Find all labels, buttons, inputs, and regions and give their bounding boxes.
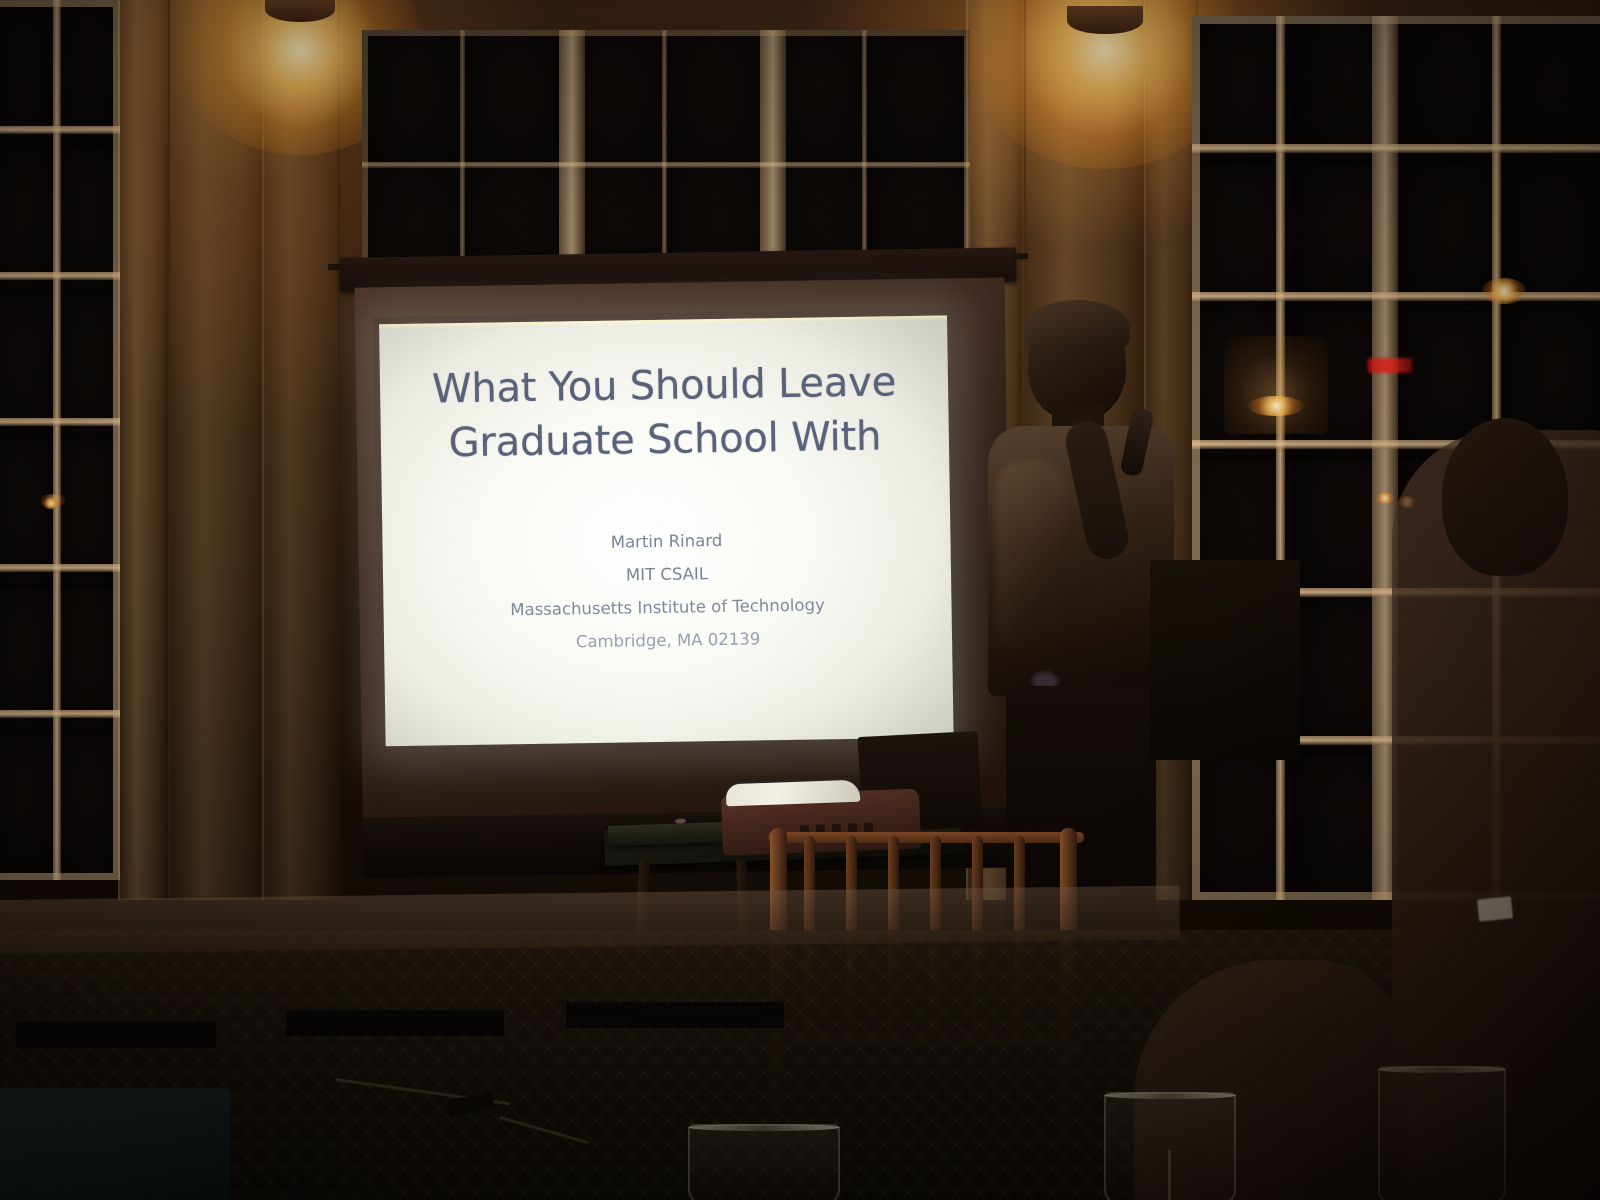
window-pane xyxy=(0,147,55,294)
window-pane xyxy=(0,293,55,440)
wall-pilaster-left-inner xyxy=(168,0,268,900)
window-pane xyxy=(1296,458,1400,605)
window-pane xyxy=(55,0,120,147)
floor-vent xyxy=(16,1022,216,1048)
slide-byline: Martin Rinard MIT CSAIL Massachusetts In… xyxy=(382,520,952,661)
slide-title-line-2: Graduate School With xyxy=(381,409,950,472)
wall-pilaster-right-inner xyxy=(1022,0,1148,900)
window-pane xyxy=(1192,16,1296,163)
window-pane xyxy=(0,440,55,587)
window-pane xyxy=(0,587,55,734)
foreground-table-edge xyxy=(0,1088,230,1200)
window-pane xyxy=(362,30,463,166)
window-pane xyxy=(55,440,120,587)
window-pane xyxy=(1192,753,1296,900)
window-pane xyxy=(1192,311,1296,458)
window-pane xyxy=(1504,753,1600,900)
window-pane xyxy=(1296,753,1400,900)
parquet-pattern xyxy=(0,930,1600,1200)
window-pane xyxy=(1296,163,1400,310)
audience-head xyxy=(1442,418,1568,576)
window-pane xyxy=(1296,16,1400,163)
wall-pilaster-right-outer xyxy=(1144,0,1198,900)
window-left-bay xyxy=(0,0,120,880)
laptop-palmrest xyxy=(726,780,861,807)
chair-top-rail xyxy=(768,832,1084,843)
window-pane xyxy=(55,733,120,880)
window-pane xyxy=(55,587,120,734)
glass-stem xyxy=(1168,1150,1171,1200)
projected-slide: What You Should Leave Graduate School Wi… xyxy=(379,315,954,746)
wall-pilaster-left-outer xyxy=(262,0,340,900)
window-pane xyxy=(1504,16,1600,163)
herringbone-parquet-floor xyxy=(0,930,1600,1200)
window-pane xyxy=(666,30,767,166)
window-pane xyxy=(1400,163,1504,310)
window-pane xyxy=(0,0,55,147)
presentation-photo: What You Should Leave Graduate School Wi… xyxy=(0,0,1600,1200)
wall-pilaster-left xyxy=(118,0,170,900)
name-badge xyxy=(1477,896,1513,921)
floor-vent xyxy=(566,1002,784,1028)
window-pane xyxy=(55,293,120,440)
window-pane xyxy=(869,30,970,166)
window-pane xyxy=(1296,311,1400,458)
window-pane xyxy=(1504,605,1600,752)
window-pane xyxy=(565,30,666,166)
av-equipment-box xyxy=(1150,560,1300,760)
window-pane xyxy=(767,30,868,166)
slide-title: What You Should Leave Graduate School Wi… xyxy=(380,355,950,471)
window-pane xyxy=(463,30,564,166)
floor-vent xyxy=(286,1010,504,1036)
window-pane xyxy=(1400,753,1504,900)
window-pane xyxy=(1400,605,1504,752)
window-pane xyxy=(1400,16,1504,163)
window-pane xyxy=(1296,605,1400,752)
window-pane xyxy=(1504,163,1600,310)
window-pane xyxy=(0,733,55,880)
slide-title-line-1: What You Should Leave xyxy=(380,355,949,418)
window-pane xyxy=(1192,163,1296,310)
window-pane xyxy=(55,147,120,294)
